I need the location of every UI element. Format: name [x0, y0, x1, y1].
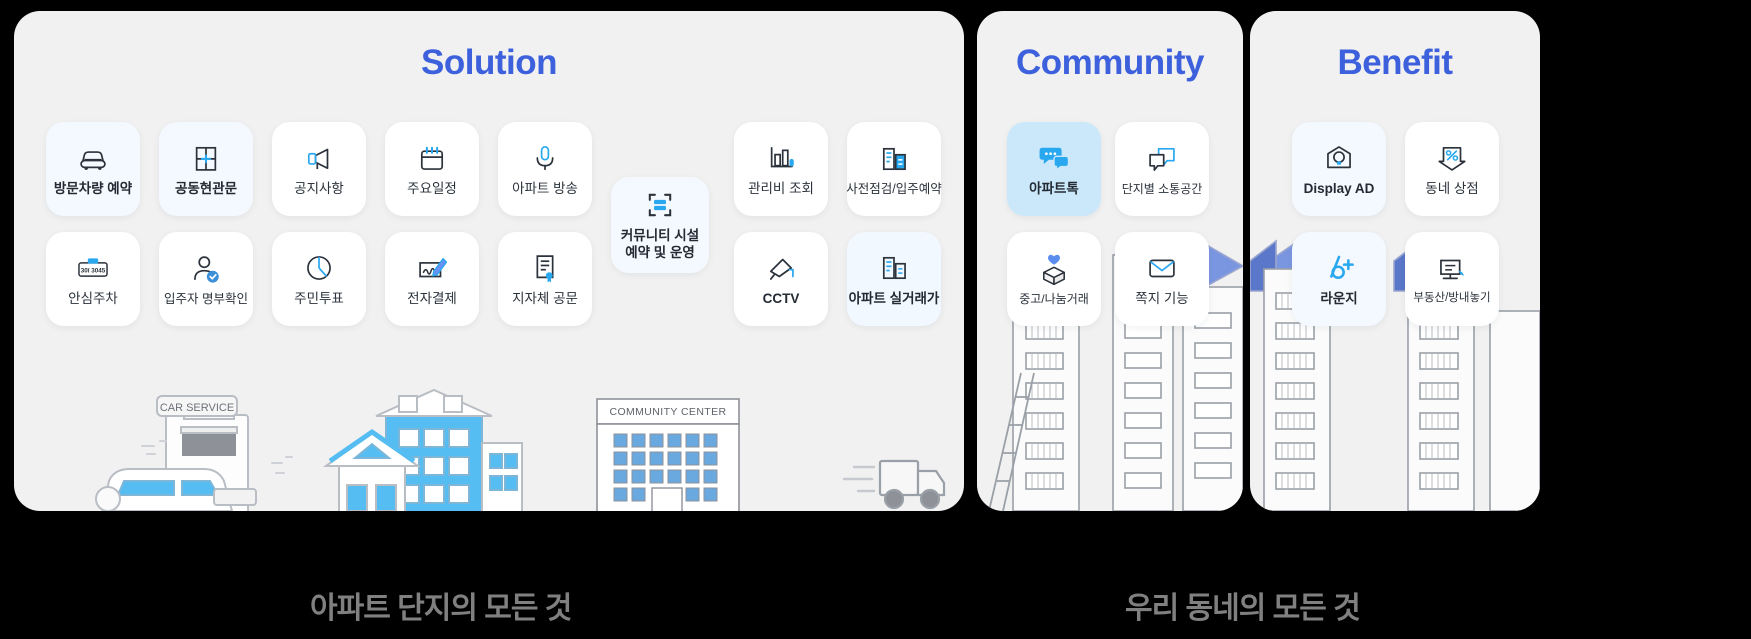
- speech-frames-icon: [1145, 142, 1179, 176]
- card-label: 공동현관문: [175, 181, 237, 197]
- bar-chart-icon: [764, 141, 798, 175]
- card-label: 주민투표: [294, 291, 344, 307]
- home-bulb-icon: [1322, 141, 1356, 175]
- caption-community-benefit: 우리 동네의 모든 것: [1125, 594, 1360, 624]
- card-benefit-1[interactable]: 동네 상점: [1405, 122, 1499, 216]
- card-label: 공지사항: [294, 181, 344, 197]
- community-center-sign-label: COMMUNITY CENTER: [609, 406, 726, 418]
- card-solution-7[interactable]: 주민투표: [272, 232, 366, 326]
- card-label: 관리비 조회: [748, 181, 814, 197]
- card-label-line1: 커뮤니티 시설: [621, 228, 699, 243]
- card-solution-8[interactable]: 전자결제: [385, 232, 479, 326]
- envelope-icon: [1145, 251, 1179, 285]
- car-icon: [76, 141, 110, 175]
- building-data-icon: [877, 251, 911, 285]
- card-label: 전자결제: [407, 291, 457, 307]
- svg-text:30ǐ 3045: 30ǐ 3045: [81, 267, 106, 274]
- card-solution-0[interactable]: 방문차량 예약: [46, 122, 140, 216]
- card-community-1[interactable]: 단지별 소통공간: [1115, 122, 1209, 216]
- card-label: 단지별 소통공간: [1122, 182, 1203, 196]
- card-label: 입주자 명부확인: [164, 292, 248, 307]
- card-solution-4[interactable]: 아파트 방송: [498, 122, 592, 216]
- card-label: 라운지: [1320, 291, 1357, 307]
- card-benefit-0[interactable]: Display AD: [1292, 122, 1386, 216]
- cctv-icon: [764, 251, 798, 285]
- card-solution-5[interactable]: 30ǐ 3045 안심주차: [46, 232, 140, 326]
- card-label: 아파트톡: [1029, 181, 1079, 197]
- card-label: 중고/나눔거래: [1019, 292, 1089, 306]
- card-label: 안심주차: [68, 291, 118, 307]
- card-solution-1[interactable]: 공동현관문: [159, 122, 253, 216]
- card-solution-3[interactable]: 주요일정: [385, 122, 479, 216]
- scan-facility-icon: [643, 188, 677, 222]
- card-solution-11[interactable]: 사전점검/입주예약: [847, 122, 941, 216]
- signature-icon: [415, 251, 449, 285]
- card-benefit-3[interactable]: 부동산/방내놓기: [1405, 232, 1499, 326]
- user-verified-icon: [189, 252, 223, 286]
- pie-vote-icon: [302, 251, 336, 285]
- card-benefit-2[interactable]: 라운지: [1292, 232, 1386, 326]
- a-plus-icon: [1322, 251, 1356, 285]
- card-label: CCTV: [763, 291, 800, 307]
- card-label: 부동산/방내놓기: [1413, 292, 1490, 306]
- card-label: 주요일정: [407, 181, 457, 197]
- microphone-icon: [528, 141, 562, 175]
- caption-solution: 아파트 단지의 모든 것: [310, 594, 571, 624]
- card-solution-2[interactable]: 공지사항: [272, 122, 366, 216]
- chat-bubbles-icon: [1037, 141, 1071, 175]
- panel-solution-title: Solution: [14, 45, 964, 80]
- card-label: Display AD: [1304, 181, 1375, 197]
- calendar-icon: [415, 141, 449, 175]
- panel-community: Community 아파트톡 단지별 소통공간 중고/나눔거래: [977, 11, 1243, 511]
- card-label: 지자체 공문: [512, 291, 578, 307]
- building-list-icon: [877, 142, 911, 176]
- panel-solution: CAR SERVICE: [14, 11, 964, 511]
- gift-box-heart-icon: [1037, 252, 1071, 286]
- panel-benefit: Benefit Display AD 동네 상점: [1250, 11, 1540, 511]
- card-label: 아파트 실거래가: [849, 291, 940, 307]
- document-seal-icon: [528, 251, 562, 285]
- panel-community-title: Community: [977, 45, 1243, 80]
- card-community-0[interactable]: 아파트톡: [1007, 122, 1101, 216]
- car-service-sign-label: CAR SERVICE: [160, 402, 234, 414]
- card-solution-community-facility[interactable]: 커뮤니티 시설 예약 및 운영: [611, 177, 709, 273]
- card-solution-10[interactable]: 관리비 조회: [734, 122, 828, 216]
- infographic-stage: CAR SERVICE: [0, 0, 1751, 639]
- card-solution-13[interactable]: 아파트 실거래가: [847, 232, 941, 326]
- megaphone-icon: [302, 141, 336, 175]
- card-label: 방문차량 예약: [54, 181, 132, 197]
- card-solution-6[interactable]: 입주자 명부확인: [159, 232, 253, 326]
- card-label: 쪽지 기능: [1135, 291, 1188, 307]
- listing-board-icon: [1435, 252, 1469, 286]
- card-label: 동네 상점: [1425, 181, 1478, 197]
- door-icon: [189, 141, 223, 175]
- card-community-2[interactable]: 중고/나눔거래: [1007, 232, 1101, 326]
- card-label: 아파트 방송: [512, 181, 578, 197]
- card-label: 사전점검/입주예약: [846, 182, 941, 197]
- card-solution-9[interactable]: 지자체 공문: [498, 232, 592, 326]
- card-community-3[interactable]: 쪽지 기능: [1115, 232, 1209, 326]
- panel-benefit-title: Benefit: [1250, 45, 1540, 80]
- card-solution-12[interactable]: CCTV: [734, 232, 828, 326]
- license-plate-icon: 30ǐ 3045: [76, 251, 110, 285]
- discount-tag-icon: [1435, 141, 1469, 175]
- card-label-line2: 예약 및 운영: [625, 245, 695, 260]
